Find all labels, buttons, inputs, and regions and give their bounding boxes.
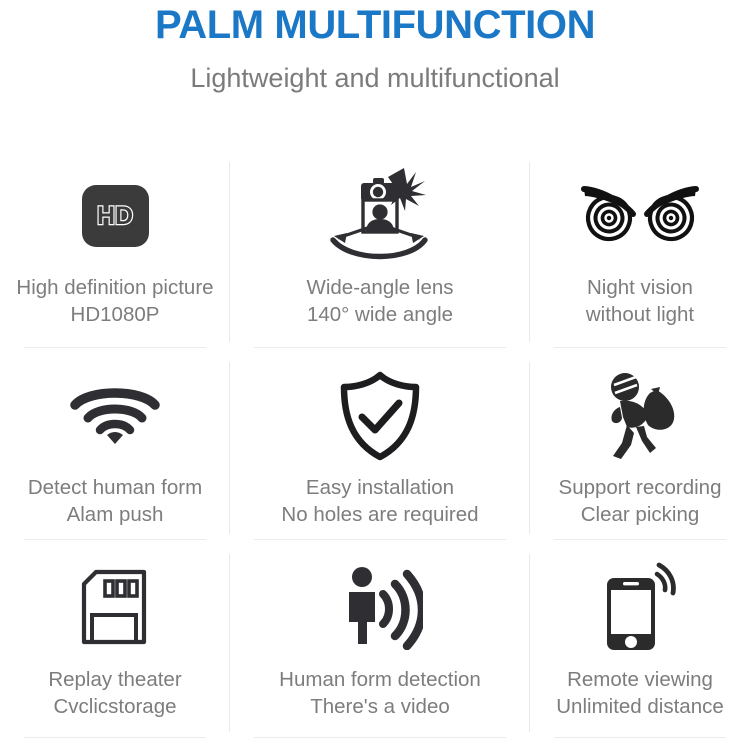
burglar-with-sack-icon — [598, 371, 682, 461]
feature-cell-support-recording: Support recording Clear picking — [530, 348, 750, 540]
feature-label: Wide-angle lens 140° wide angle — [307, 274, 454, 328]
features-grid: HD High definition picture HD1080P — [0, 148, 750, 738]
icon-container — [69, 364, 161, 468]
icon-container — [321, 164, 439, 268]
icon-container: HD — [82, 164, 149, 268]
feature-label-line2: Clear picking — [559, 501, 722, 528]
feature-label: High definition picture HD1080P — [16, 274, 213, 328]
feature-label: Replay theater Cvclicstorage — [48, 666, 181, 720]
page-subtitle: Lightweight and multifunctional — [0, 62, 750, 94]
icon-container — [79, 556, 151, 660]
feature-label-line1: Wide-angle lens — [307, 276, 454, 299]
feature-label-line1: Easy installation — [306, 476, 454, 499]
feature-cell-detect-human: Detect human form Alam push — [0, 348, 230, 540]
page-header: PALM MULTIFUNCTION Lightweight and multi… — [0, 0, 750, 94]
feature-label: Human form detection There's a video — [279, 666, 481, 720]
wide-angle-camera-icon — [321, 166, 439, 266]
feature-label-line1: High definition picture — [16, 276, 213, 299]
feature-cell-easy-install: Easy installation No holes are required — [230, 348, 530, 540]
feature-label-line1: Support recording — [559, 476, 722, 499]
feature-label-line1: Night vision — [587, 276, 693, 299]
feature-cell-hd: HD High definition picture HD1080P — [0, 148, 230, 348]
feature-label-line2: No holes are required — [281, 501, 478, 528]
feature-label-line2: Alam push — [28, 501, 202, 528]
feature-grid-page: PALM MULTIFUNCTION Lightweight and multi… — [0, 0, 750, 750]
feature-label-line2: There's a video — [279, 693, 481, 720]
feature-label-line1: Detect human form — [28, 476, 202, 499]
feature-label: Night vision without light — [586, 274, 694, 328]
night-vision-eyes-icon — [579, 182, 701, 250]
feature-label-line2: Cvclicstorage — [48, 693, 181, 720]
feature-label-line1: Replay theater — [48, 668, 181, 691]
hd-badge-icon: HD — [82, 185, 149, 247]
feature-cell-night-vision: Night vision without light — [530, 148, 750, 348]
hd-badge-label: HD — [97, 203, 133, 229]
sd-memory-card-icon — [79, 569, 151, 647]
wifi-signal-icon — [69, 383, 161, 449]
feature-cell-human-detection: Human form detection There's a video — [230, 540, 530, 738]
icon-container — [579, 164, 701, 268]
icon-container — [337, 364, 423, 468]
feature-label-line2: HD1080P — [16, 301, 213, 328]
feature-label: Detect human form Alam push — [28, 474, 202, 528]
feature-cell-replay-theater: Replay theater Cvclicstorage — [0, 540, 230, 738]
feature-label-line1: Remote viewing — [567, 668, 713, 691]
feature-label: Remote viewing Unlimited distance — [556, 666, 724, 720]
feature-label-line1: Human form detection — [279, 668, 481, 691]
feature-label: Easy installation No holes are required — [281, 474, 478, 528]
icon-container — [337, 556, 423, 660]
shield-check-icon — [337, 370, 423, 462]
page-title: PALM MULTIFUNCTION — [0, 2, 750, 48]
feature-label-line2: Unlimited distance — [556, 693, 724, 720]
human-motion-sensor-icon — [337, 566, 423, 650]
feature-cell-wide-angle: Wide-angle lens 140° wide angle — [230, 148, 530, 348]
feature-label: Support recording Clear picking — [559, 474, 722, 528]
icon-container — [599, 556, 681, 660]
icon-container — [598, 364, 682, 468]
feature-cell-remote-viewing: Remote viewing Unlimited distance — [530, 540, 750, 738]
feature-label-line2: without light — [586, 301, 694, 328]
feature-label-line2: 140° wide angle — [307, 301, 454, 328]
smartphone-wifi-icon — [599, 562, 681, 654]
